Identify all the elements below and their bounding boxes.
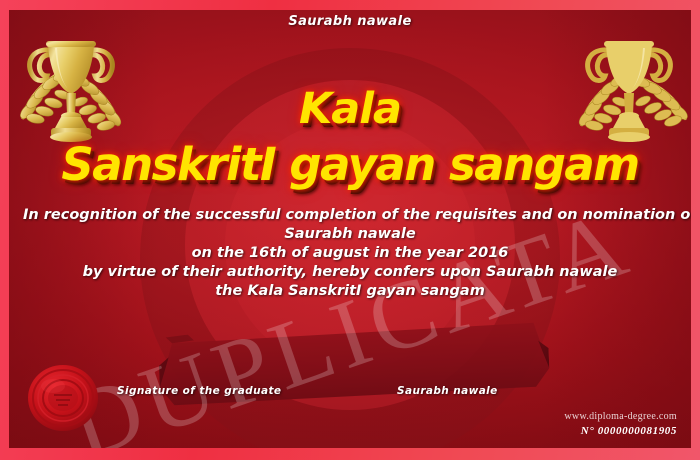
footer-website-url[interactable]: www.diploma-degree.com [564, 411, 677, 422]
certificate-inner-frame: DUPLICATA [9, 10, 691, 448]
body-line-recipient: Saurabh nawale [23, 225, 677, 244]
signature-name-recipient: Saurabh nawale [397, 385, 498, 397]
wax-seal-icon [27, 364, 99, 432]
certificate: DUPLICATA [0, 0, 700, 460]
body-line-award: the Kala SanskritI gayan sangam [23, 282, 677, 301]
body-line-date: on the 16th of august in the year 2016 [23, 244, 677, 263]
body-line-authority: by virtue of their authority, hereby con… [23, 263, 677, 282]
footer-serial-number: N° 0000000081905 [581, 425, 677, 437]
header-recipient-name: Saurabh nawale [9, 14, 691, 29]
certificate-title-line1: Kala [9, 84, 691, 134]
body-line-recognition: In recognition of the successful complet… [23, 206, 677, 225]
certificate-title-line2: SanskritI gayan sangam [9, 138, 691, 191]
signature-label-graduate: Signature of the graduate [117, 385, 281, 397]
certificate-body: In recognition of the successful complet… [23, 206, 677, 301]
